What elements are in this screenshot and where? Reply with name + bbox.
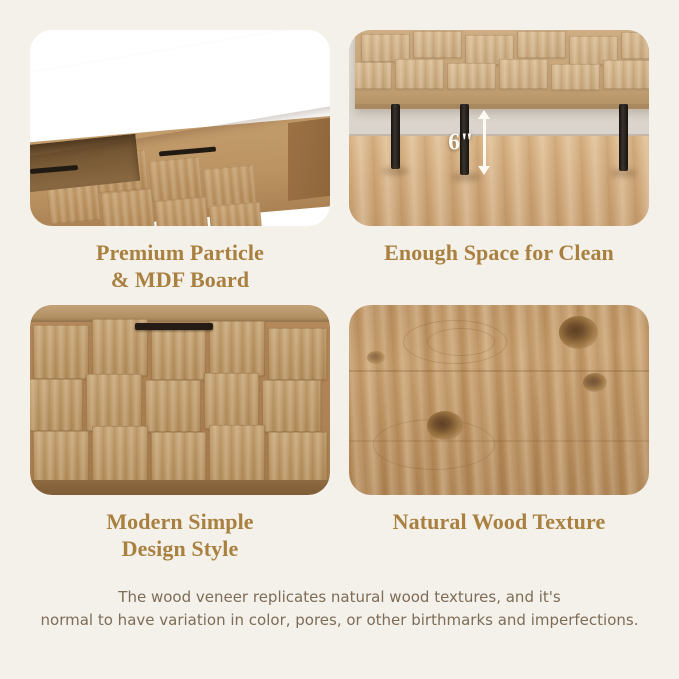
cabinet-leg [391, 104, 400, 169]
feature-cell-natural-wood-texture: Natural Wood Texture [349, 305, 649, 563]
product-feature-infographic: Premium Particle & MDF Board [0, 0, 679, 679]
wood-knot [559, 316, 598, 348]
caption-line: Natural Wood Texture [349, 509, 649, 536]
clearance-dimension-label: 6" [448, 129, 473, 156]
cabinet-top-rim [30, 305, 330, 322]
feature-image-enough-space-for-clean: 6" [349, 30, 649, 226]
cabinet-leg [619, 104, 628, 171]
feature-image-natural-wood-texture [349, 305, 649, 495]
dimension-line [483, 116, 486, 169]
cabinet-block-pattern [355, 30, 649, 94]
wood-knot [583, 373, 607, 392]
caption-line: Enough Space for Clean [349, 240, 649, 267]
wood-knot [367, 351, 385, 364]
caption-line: Modern Simple [30, 509, 330, 536]
caption-line: Design Style [30, 536, 330, 563]
cabinet-base [30, 480, 330, 495]
feature-grid: Premium Particle & MDF Board [0, 0, 679, 579]
cabinet-front [30, 305, 330, 495]
feature-caption-modern-simple-design-style: Modern Simple Design Style [30, 509, 330, 563]
caption-line: Premium Particle [30, 240, 330, 267]
footnote-line: The wood veneer replicates natural wood … [0, 586, 679, 609]
feature-cell-premium-particle-mdf-board: Premium Particle & MDF Board [30, 30, 330, 280]
plank-seam [349, 370, 649, 372]
feature-caption-premium-particle-mdf-board: Premium Particle & MDF Board [30, 240, 330, 294]
cabinet-block-pattern [33, 322, 327, 480]
wood-grain-surface [349, 305, 649, 495]
veneer-disclaimer: The wood veneer replicates natural wood … [0, 586, 679, 633]
feature-image-premium-particle-mdf-board [30, 30, 330, 226]
cabinet-body [355, 30, 649, 109]
wood-knot [427, 411, 463, 440]
feature-caption-enough-space-for-clean: Enough Space for Clean [349, 240, 649, 267]
footnote-line: normal to have variation in color, pores… [0, 609, 679, 632]
arrow-down-icon [478, 166, 490, 175]
feature-cell-modern-simple-design-style: Modern Simple Design Style [30, 305, 330, 563]
clearance-dimension-arrow: 6" [483, 110, 486, 175]
cabinet-side-edge [288, 117, 330, 201]
caption-line: & MDF Board [30, 267, 330, 294]
feature-caption-natural-wood-texture: Natural Wood Texture [349, 509, 649, 536]
feature-image-modern-simple-design-style [30, 305, 330, 495]
drawer-handle [135, 323, 213, 330]
feature-cell-enough-space-for-clean: 6" Enough Space for Clean [349, 30, 649, 280]
